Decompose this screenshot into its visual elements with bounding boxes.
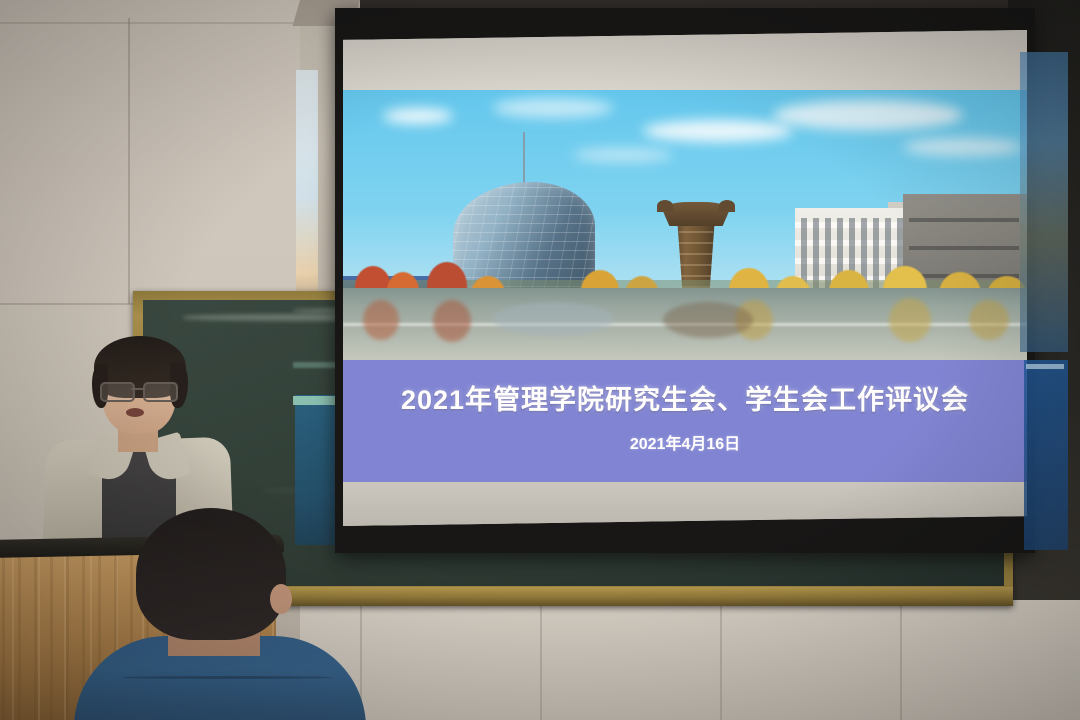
presentation-photo-scene: 2021年管理学院研究生会、学生会工作评议会 2021年4月16日 xyxy=(0,0,1080,720)
screen-bottom-margin xyxy=(343,482,1027,526)
board-reflection-highlight xyxy=(293,396,337,405)
wall-seam-horizontal-lower xyxy=(0,303,140,305)
presentation-slide: 2021年管理学院研究生会、学生会工作评议会 2021年4月16日 xyxy=(343,90,1027,488)
screen-surface: 2021年管理学院研究生会、学生会工作评议会 2021年4月16日 xyxy=(343,30,1027,526)
audience-hair xyxy=(136,508,286,640)
slide-date: 2021年4月16日 xyxy=(343,430,1027,454)
speaker-mouth xyxy=(126,408,144,417)
screen-top-margin xyxy=(343,30,1027,92)
right-edge-reflection xyxy=(1020,52,1068,352)
wall-seam-vertical xyxy=(128,18,130,304)
projection-screen: 2021年管理学院研究生会、学生会工作评议会 2021年4月16日 xyxy=(335,8,1035,553)
wall-seam-horizontal xyxy=(0,22,300,24)
slide-photo xyxy=(343,90,1027,360)
lower-wall-wainscot xyxy=(300,600,1080,720)
building-mast xyxy=(523,132,525,188)
eyeglasses-icon xyxy=(100,382,180,398)
slide-title: 2021年管理学院研究生会、学生会工作评议会 xyxy=(343,378,1027,417)
window-light-strip xyxy=(296,70,318,302)
audience-member xyxy=(92,508,332,720)
right-edge-reflection-highlight xyxy=(1026,364,1064,369)
audience-ear xyxy=(270,584,292,614)
right-edge-reflection-lower xyxy=(1024,360,1068,550)
